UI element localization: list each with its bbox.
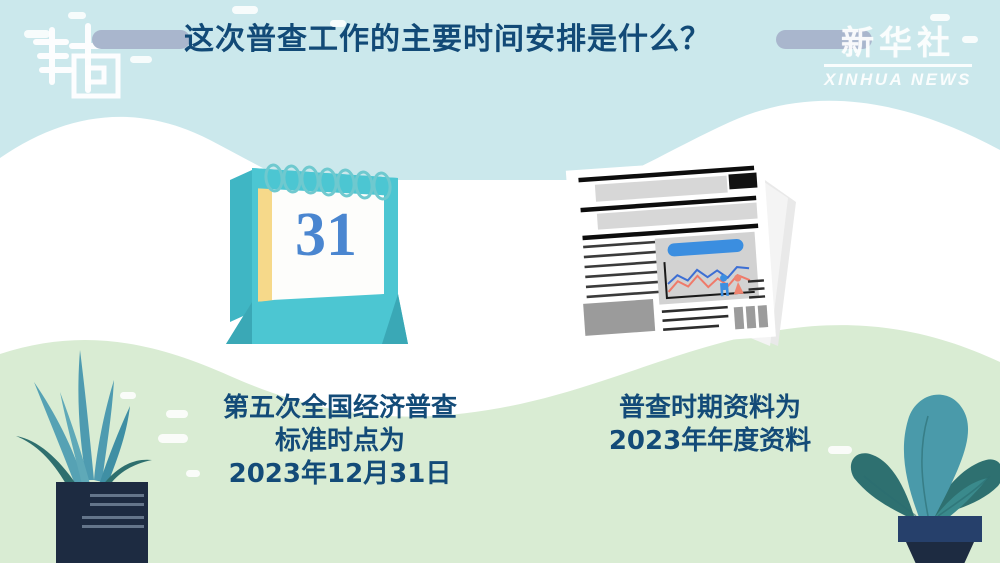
publisher-name-cn: 新华社 xyxy=(818,24,978,62)
caption-right-line-2: 2023年年度资料 xyxy=(545,425,875,458)
page-title: 这次普查工作的主要时间安排是什么？ xyxy=(184,18,784,62)
wave-divider-white xyxy=(0,96,1000,226)
caption-left-line-1: 第五次全国经济普查 xyxy=(145,392,535,425)
title-accent-pill-left xyxy=(92,30,190,49)
plant-pot-right xyxy=(906,542,974,563)
caption-left-line-3: 2023年12月31日 xyxy=(145,458,535,491)
deco-dash-2 xyxy=(68,12,86,19)
calendar-day-number: 31 xyxy=(295,201,357,269)
brand-logo-kehua xyxy=(26,16,126,102)
infographic-canvas: 这次普查工作的主要时间安排是什么？ 新华社 XINHUA NEWS xyxy=(0,0,1000,563)
publisher-rule xyxy=(824,64,972,67)
publisher-name-en: XINHUA NEWS xyxy=(818,70,978,90)
caption-right-line-1: 普查时期资料为 xyxy=(545,392,875,425)
caption-right: 普查时期资料为 2023年年度资料 xyxy=(545,392,875,458)
deco-dash-1 xyxy=(24,30,50,38)
caption-left-line-2: 标准时点为 xyxy=(145,425,535,458)
publisher-logo: 新华社 XINHUA NEWS xyxy=(818,24,978,90)
plant-left-illustration xyxy=(0,340,164,563)
newspaper-illustration xyxy=(556,156,806,356)
calendar-illustration: 31 xyxy=(212,152,418,357)
deco-dash-4 xyxy=(232,6,258,14)
plant-pot-right-rim xyxy=(898,516,982,542)
caption-left: 第五次全国经济普查 标准时点为 2023年12月31日 xyxy=(145,392,535,491)
deco-dash-7 xyxy=(962,36,978,43)
deco-dash-6 xyxy=(930,14,950,21)
deco-dash-5 xyxy=(330,20,346,27)
deco-dash-3 xyxy=(130,56,152,63)
